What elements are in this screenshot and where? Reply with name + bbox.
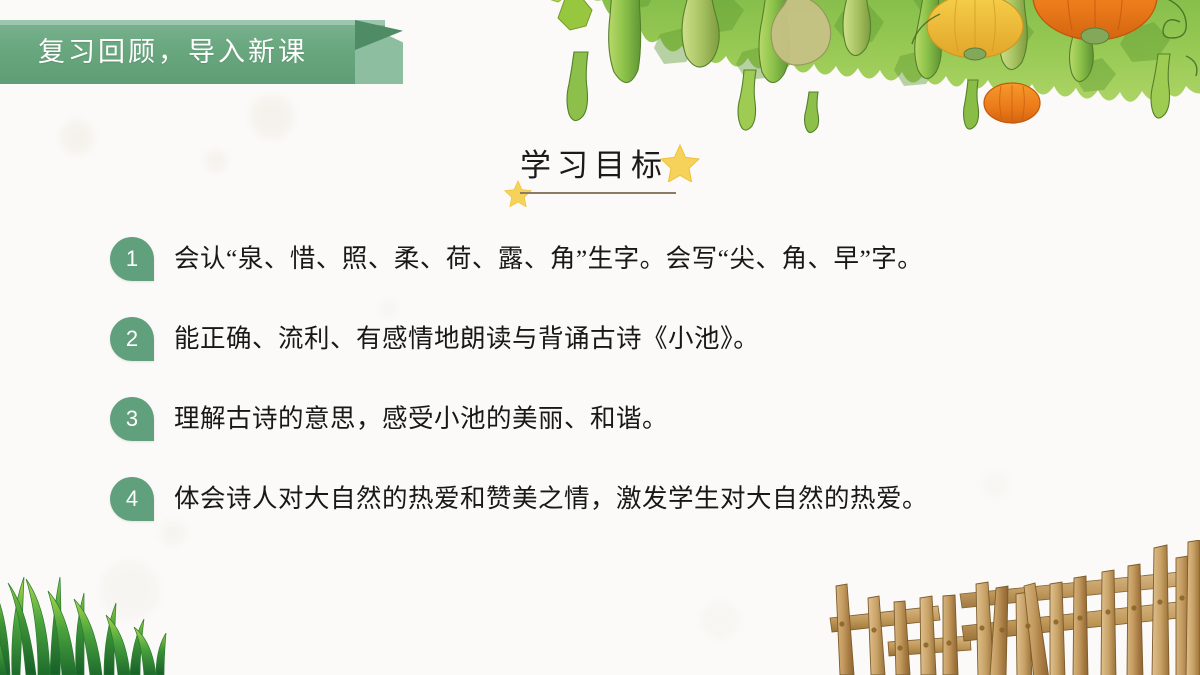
- objective-number-badge: 2: [110, 317, 154, 361]
- title-underline: [520, 192, 676, 194]
- list-item: 3 理解古诗的意思，感受小池的美丽、和谐。: [110, 392, 1110, 446]
- grass-illustration: [0, 535, 177, 675]
- section-banner: 复习回顾，导入新课: [0, 20, 400, 84]
- title-block: 学习目标: [470, 140, 730, 220]
- objective-text: 能正确、流利、有感情地朗读与背诵古诗《小池》。: [174, 323, 759, 355]
- objective-text: 会认“泉、惜、照、柔、荷、露、角”生字。会写“尖、角、早”字。: [174, 243, 923, 275]
- banner-label: 复习回顾，导入新课: [38, 20, 308, 84]
- list-item: 2 能正确、流利、有感情地朗读与背诵古诗《小池》。: [110, 312, 1110, 366]
- gourd-vine-illustration: [470, 0, 1200, 135]
- list-item: 4 体会诗人对大自然的热爱和赞美之情，激发学生对大自然的热爱。: [110, 472, 1110, 526]
- objective-text: 体会诗人对大自然的热爱和赞美之情，激发学生对大自然的热爱。: [174, 483, 928, 515]
- objective-text: 理解古诗的意思，感受小池的美丽、和谐。: [174, 403, 668, 435]
- objective-number-badge: 1: [110, 237, 154, 281]
- list-item: 1 会认“泉、惜、照、柔、荷、露、角”生字。会写“尖、角、早”字。: [110, 232, 1110, 286]
- objectives-list: 1 会认“泉、惜、照、柔、荷、露、角”生字。会写“尖、角、早”字。 2 能正确、…: [110, 232, 1110, 552]
- objective-number-badge: 4: [110, 477, 154, 521]
- wooden-fence-illustration: [810, 540, 1200, 675]
- objective-number-badge: 3: [110, 397, 154, 441]
- page-title: 学习目标: [520, 140, 668, 185]
